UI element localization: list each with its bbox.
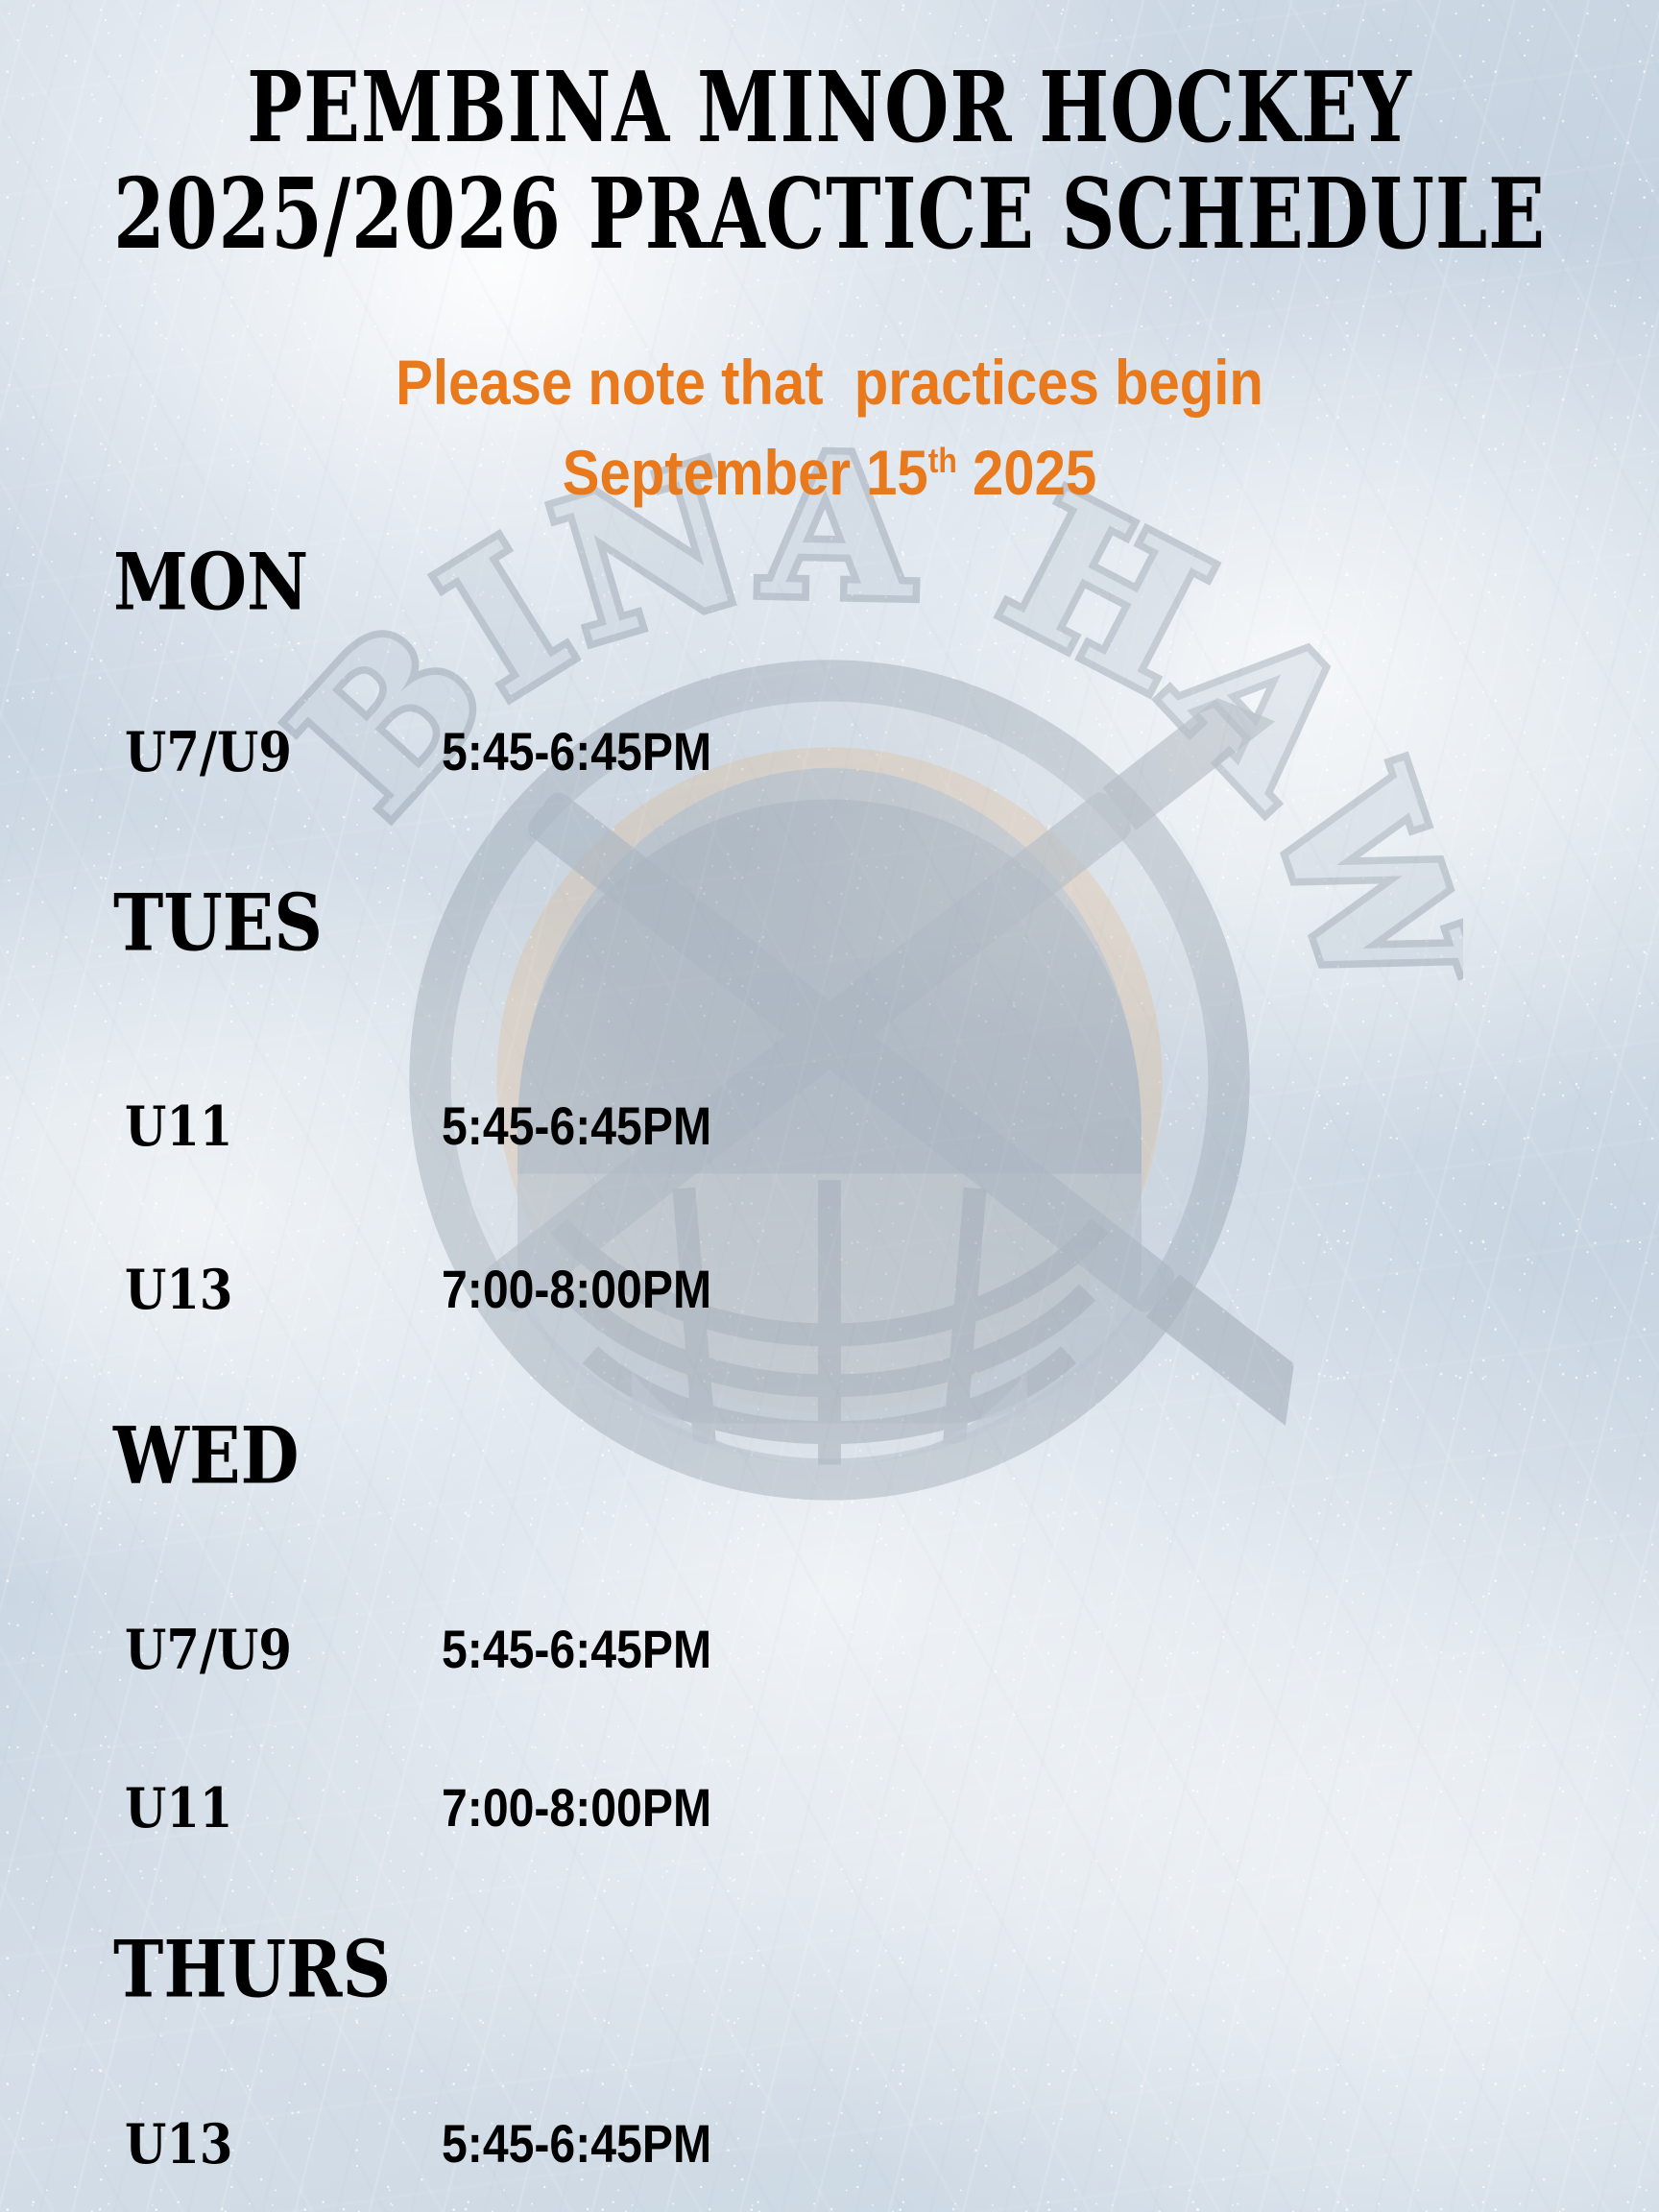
day-label: TUES bbox=[113, 884, 323, 962]
title-line-2: 2025/2026 PRACTICE SCHEDULE bbox=[66, 162, 1593, 265]
note-line-1: Please note that practices begin bbox=[100, 338, 1560, 428]
day-label: WED bbox=[113, 1417, 300, 1495]
note-date-prefix: September 15 bbox=[563, 437, 928, 508]
table-row: U13 5:45-6:45PM bbox=[125, 2117, 989, 2171]
note-date-year: 2025 bbox=[957, 437, 1096, 508]
poster-title: PEMBINA MINOR HOCKEY 2025/2026 PRACTICE … bbox=[0, 56, 1659, 248]
practice-time: 5:45-6:45PM bbox=[442, 2117, 711, 2171]
age-group-label: U7/U9 bbox=[125, 1622, 417, 1676]
practice-schedule-poster: PEMBINA HAWKS PEMBINA HAWKS bbox=[0, 0, 1659, 2212]
age-group-label: U7/U9 bbox=[125, 724, 417, 779]
table-row: U11 7:00-8:00PM bbox=[125, 1781, 989, 1835]
age-group-label: U11 bbox=[125, 1098, 417, 1153]
day-header-thurs: THURS bbox=[113, 1935, 405, 2006]
note-line-2: September 15th 2025 bbox=[100, 428, 1560, 518]
practice-time: 7:00-8:00PM bbox=[442, 1781, 711, 1835]
note-date-ordinal-suffix: th bbox=[928, 441, 957, 480]
day-header-wed: WED bbox=[113, 1421, 309, 1492]
table-row: U11 5:45-6:45PM bbox=[125, 1099, 989, 1153]
age-group-label: U13 bbox=[125, 1262, 417, 1316]
age-group-label: U11 bbox=[125, 1780, 417, 1835]
start-date-note: Please note that practices begin Septemb… bbox=[0, 338, 1659, 517]
day-label: THURS bbox=[113, 1931, 391, 2008]
practice-time: 5:45-6:45PM bbox=[442, 725, 711, 779]
title-line-1: PEMBINA MINOR HOCKEY bbox=[66, 56, 1593, 158]
table-row: U7/U9 5:45-6:45PM bbox=[125, 1623, 989, 1676]
day-header-mon: MON bbox=[113, 547, 319, 618]
practice-time: 5:45-6:45PM bbox=[442, 1099, 711, 1153]
table-row: U13 7:00-8:00PM bbox=[125, 1262, 989, 1316]
age-group-label: U13 bbox=[125, 2116, 417, 2171]
day-header-tues: TUES bbox=[113, 888, 333, 959]
practice-time: 5:45-6:45PM bbox=[442, 1623, 711, 1676]
table-row: U7/U9 5:45-6:45PM bbox=[125, 725, 989, 779]
practice-time: 7:00-8:00PM bbox=[442, 1262, 711, 1316]
day-label: MON bbox=[113, 543, 308, 621]
